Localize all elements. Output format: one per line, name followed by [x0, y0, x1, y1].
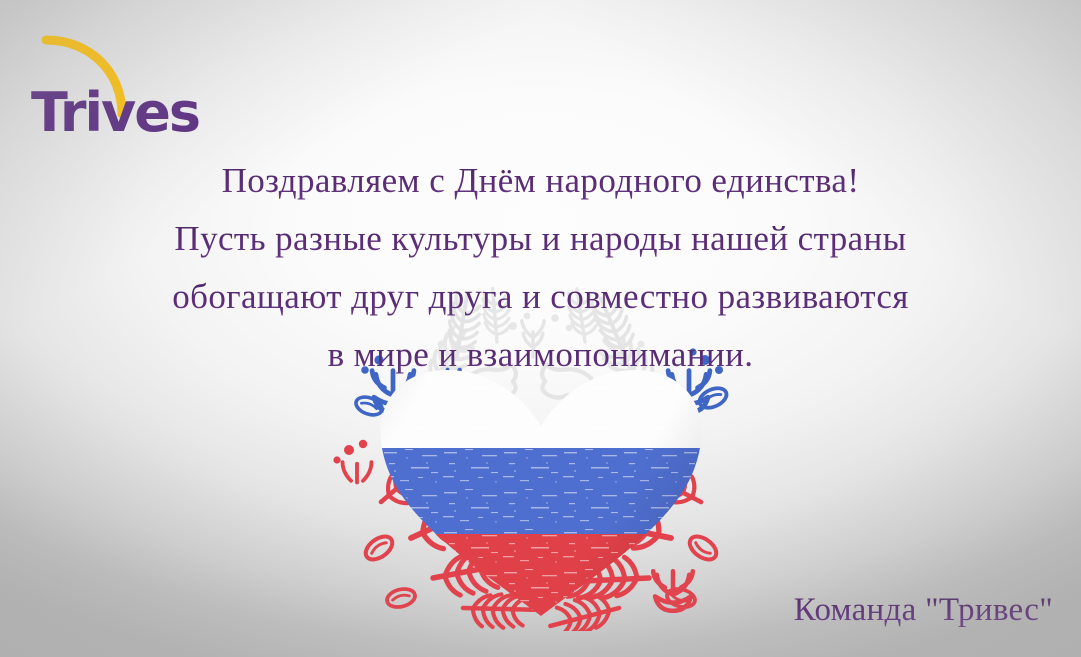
- trives-wordmark: Trives: [31, 86, 199, 140]
- signature-text: Команда "Тривес": [794, 591, 1053, 631]
- trives-logo[interactable]: Trives: [30, 28, 230, 138]
- russian-flag-heart-artwork: [261, 286, 821, 631]
- message-line-2: Пусть разные культуры и народы нашей стр…: [0, 210, 1081, 268]
- message-line-1: Поздравляем с Днём народного единства!: [0, 152, 1081, 210]
- greeting-card: Поздравляем с Днём народного единства! П…: [0, 0, 1081, 657]
